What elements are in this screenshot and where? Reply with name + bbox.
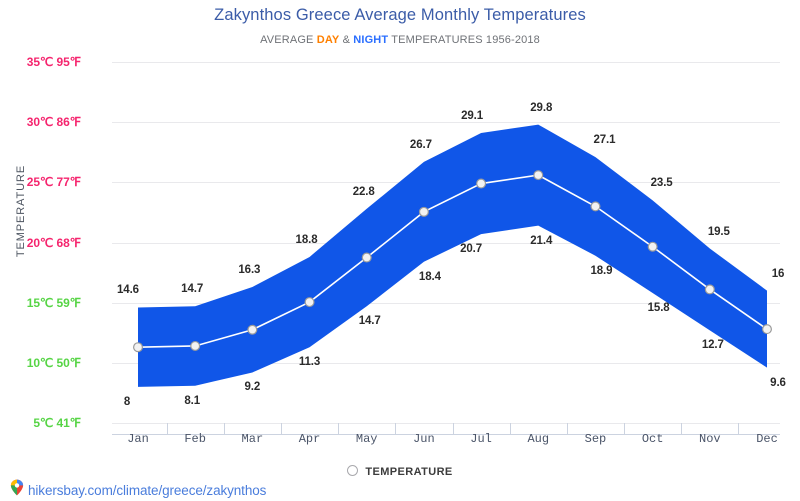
data-point-marker[interactable] [420, 207, 429, 216]
data-point-marker[interactable] [134, 343, 143, 352]
data-point-marker[interactable] [477, 179, 486, 188]
x-axis-month-apr: Apr [280, 432, 340, 446]
night-value-label: 21.4 [511, 235, 571, 247]
day-value-label: 14.6 [98, 284, 158, 296]
source-footer[interactable]: hikersbay.com/climate/greece/zakynthos [10, 479, 266, 501]
gridline [112, 363, 780, 364]
data-point-marker[interactable] [591, 202, 600, 211]
night-value-label: 9.2 [222, 381, 282, 393]
night-value-label: 18.9 [571, 265, 631, 277]
data-point-marker[interactable] [191, 342, 200, 351]
data-point-marker[interactable] [648, 242, 657, 251]
y-axis-tick-label: 5℃ 41℉ [33, 416, 81, 430]
night-value-label: 18.4 [400, 271, 460, 283]
data-point-marker[interactable] [705, 285, 714, 294]
x-axis-month-mar: Mar [222, 432, 282, 446]
subtitle-day: DAY [317, 34, 340, 46]
x-axis-month-oct: Oct [623, 432, 683, 446]
source-url[interactable]: hikersbay.com/climate/greece/zakynthos [28, 483, 266, 498]
x-axis-month-nov: Nov [680, 432, 740, 446]
page-title: Zakynthos Greece Average Monthly Tempera… [0, 6, 800, 25]
map-pin-icon [10, 479, 24, 501]
night-value-label: 8 [97, 396, 157, 408]
data-point-marker[interactable] [362, 253, 371, 262]
legend-label: TEMPERATURE [365, 466, 452, 478]
gridline [112, 423, 780, 424]
day-value-label: 26.7 [391, 139, 451, 151]
y-axis-tick-label: 15℃ 59℉ [27, 296, 81, 310]
mean-temperature-line [138, 175, 767, 347]
night-value-label: 11.3 [280, 356, 340, 368]
gridline [112, 62, 780, 63]
y-axis-title: TEMPERATURE [15, 151, 27, 271]
day-value-label: 16.3 [219, 264, 279, 276]
night-value-label: 20.7 [441, 243, 501, 255]
night-value-label: 12.7 [683, 339, 743, 351]
day-value-label: 23.5 [632, 177, 692, 189]
x-axis-month-may: May [337, 432, 397, 446]
data-point-marker[interactable] [534, 171, 543, 180]
day-value-label: 27.1 [574, 134, 634, 146]
subtitle-prefix: AVERAGE [260, 34, 317, 46]
day-value-label: 29.8 [511, 102, 571, 114]
y-axis-tick-label: 35℃ 95℉ [27, 55, 81, 69]
chart-subtitle: AVERAGE DAY & NIGHT TEMPERATURES 1956-20… [0, 34, 800, 46]
climate-chart: Zakynthos Greece Average Monthly Tempera… [0, 0, 800, 500]
x-axis-month-aug: Aug [508, 432, 568, 446]
day-value-label: 29.1 [442, 110, 502, 122]
plot-area [0, 0, 800, 500]
x-axis-month-jan: Jan [108, 432, 168, 446]
y-axis-tick-label: 30℃ 86℉ [27, 115, 81, 129]
x-axis-month-sep: Sep [565, 432, 625, 446]
data-point-marker[interactable] [763, 325, 772, 334]
day-value-label: 18.8 [277, 234, 337, 246]
x-axis-month-jul: Jul [451, 432, 511, 446]
gridline [112, 122, 780, 123]
legend-marker-icon [347, 465, 358, 476]
y-axis-tick-label: 10℃ 50℉ [27, 356, 81, 370]
y-axis-tick-label: 20℃ 68℉ [27, 236, 81, 250]
day-value-label: 14.7 [162, 283, 222, 295]
subtitle-night: NIGHT [353, 34, 388, 46]
x-axis-month-jun: Jun [394, 432, 454, 446]
night-value-label: 14.7 [340, 315, 400, 327]
day-value-label: 19.5 [689, 226, 749, 238]
y-axis-tick-label: 25℃ 77℉ [27, 175, 81, 189]
day-value-label: 22.8 [334, 186, 394, 198]
data-point-marker[interactable] [248, 325, 257, 334]
night-value-label: 9.6 [748, 377, 800, 389]
chart-legend: TEMPERATURE [0, 464, 800, 478]
subtitle-suffix: TEMPERATURES 1956-2018 [388, 34, 540, 46]
x-axis-month-dec: Dec [737, 432, 797, 446]
temperature-band [138, 125, 767, 387]
x-axis-month-feb: Feb [165, 432, 225, 446]
subtitle-amp: & [339, 34, 353, 46]
night-value-label: 8.1 [162, 395, 222, 407]
night-value-label: 15.8 [629, 302, 689, 314]
day-value-label: 16 [748, 268, 800, 280]
